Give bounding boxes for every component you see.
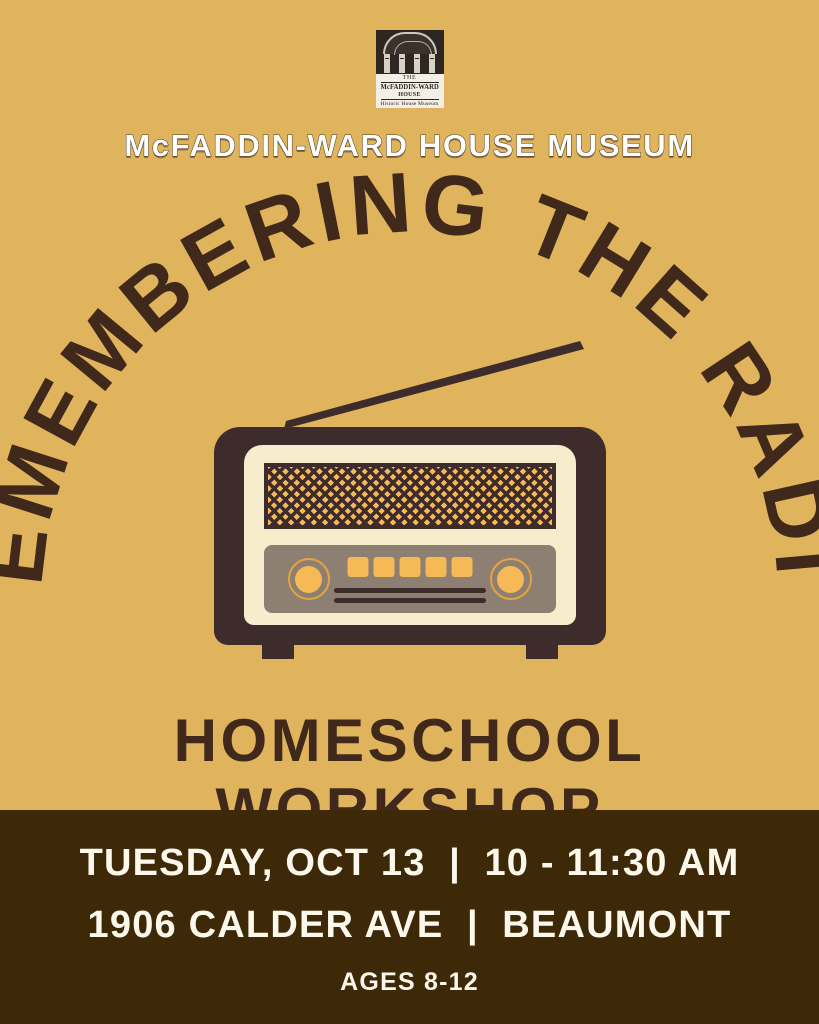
poster-canvas: THE McFADDIN-WARD HOUSE Historic House M… [0, 0, 819, 1024]
vintage-radio-illustration [200, 335, 620, 680]
radio-tuning-bar [334, 588, 486, 593]
radio-preset-button[interactable] [399, 557, 420, 577]
logo-arch-icon [383, 32, 437, 54]
logo-building-icon [376, 30, 444, 73]
logo-wordmark: THE McFADDIN-WARD HOUSE Historic House M… [376, 73, 444, 108]
museum-name-heading: McFADDIN-WARD HOUSE MUSEUM [0, 128, 819, 164]
radio-preset-button[interactable] [451, 557, 472, 577]
event-details-footer: TUESDAY, OCT 13 | 10 - 11:30 AM 1906 CAL… [0, 810, 819, 1024]
logo-divider [381, 99, 439, 100]
radio-foot-right [526, 645, 558, 659]
event-address: 1906 CALDER AVE | BEAUMONT [88, 904, 732, 947]
logo-column [412, 54, 422, 73]
radio-preset-button[interactable] [347, 557, 368, 577]
logo-line-the: THE [403, 75, 416, 81]
radio-control-panel [264, 545, 556, 613]
radio-case [214, 427, 606, 645]
logo-line-house: HOUSE [398, 92, 421, 98]
radio-foot-left [262, 645, 294, 659]
radio-tuning-bar [334, 598, 486, 603]
radio-antenna-icon [284, 341, 584, 433]
radio-speaker-grille [264, 463, 556, 529]
radio-preset-buttons [347, 557, 472, 577]
radio-preset-button[interactable] [373, 557, 394, 577]
logo-columns-icon [382, 54, 438, 73]
event-date-time: TUESDAY, OCT 13 | 10 - 11:30 AM [80, 842, 740, 885]
logo-column [397, 54, 407, 73]
radio-tuning-bars [334, 588, 486, 608]
radio-knob-right[interactable] [490, 558, 532, 600]
logo-line-mcfaddin-ward: McFADDIN-WARD [380, 84, 438, 91]
logo-subtitle: Historic House Museum [376, 101, 444, 108]
museum-logo: THE McFADDIN-WARD HOUSE Historic House M… [376, 30, 444, 108]
radio-knob-left[interactable] [288, 558, 330, 600]
logo-column [427, 54, 437, 73]
event-ages: AGES 8-12 [340, 968, 479, 997]
logo-container: THE McFADDIN-WARD HOUSE Historic House M… [0, 30, 819, 108]
radio-front-panel [244, 445, 576, 625]
radio-preset-button[interactable] [425, 557, 446, 577]
logo-column [382, 54, 392, 73]
